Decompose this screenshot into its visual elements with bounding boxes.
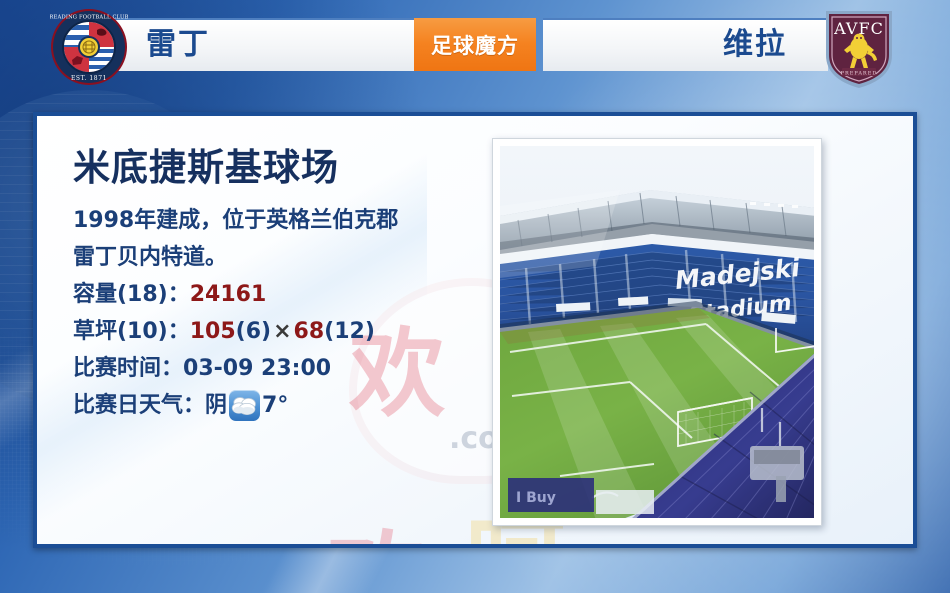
stadium-description-line-1: 1998年建成，位于英格兰伯克郡 xyxy=(73,202,493,239)
stadium-info-card: 欢 .com 欢 呵 米底捷斯基球场 1998年建成，位于英格兰伯克郡 雷丁贝内… xyxy=(33,112,917,548)
capacity-label: 容量(18)： xyxy=(73,282,190,307)
pitch-length: 105 xyxy=(190,319,236,344)
stadium-description-line-2: 雷丁贝内特道。 xyxy=(73,239,493,276)
pitch-width-rank: (12) xyxy=(324,319,375,344)
site-brand-logo-text: 足球魔方 xyxy=(431,30,519,60)
site-brand-logo[interactable]: 足球魔方 xyxy=(414,18,536,71)
weather-label: 比赛日天气： xyxy=(73,387,205,424)
weather-condition: 阴 xyxy=(205,387,227,424)
cloudy-icon xyxy=(229,390,260,421)
aston-villa-crest[interactable]: AVFC PREPARED xyxy=(822,8,896,90)
match-weather-row: 比赛日天气：阴 7° xyxy=(73,387,493,424)
stadium-title: 米底捷斯基球场 xyxy=(73,146,493,190)
match-header: READING FOOTBALL CLUB EST. 1871 雷丁 足球魔方 … xyxy=(0,0,950,90)
weather-temperature: 7° xyxy=(262,387,288,424)
svg-text:READING FOOTBALL CLUB: READING FOOTBALL CLUB xyxy=(50,15,128,21)
pitch-width: 68 xyxy=(294,319,325,344)
reading-fc-crest[interactable]: READING FOOTBALL CLUB EST. 1871 xyxy=(50,8,128,86)
match-time-label: 比赛时间： xyxy=(73,356,183,381)
stadium-photo-frame[interactable]: Madejski Stadium xyxy=(492,138,822,526)
match-time-row: 比赛时间：03-09 23:00 xyxy=(73,350,493,387)
capacity-value: 24161 xyxy=(190,282,267,307)
watermark-char-2: 欢 xyxy=(327,496,431,548)
madejski-stadium-photo: Madejski Stadium xyxy=(500,146,814,518)
match-time-value: 03-09 23:00 xyxy=(183,356,331,381)
pitch-length-rank: (6) xyxy=(236,319,271,344)
home-team-name: 雷丁 xyxy=(146,28,210,62)
pitch-separator: × xyxy=(271,319,293,344)
pitch-label: 草坪(10)： xyxy=(73,319,190,344)
svg-text:PREPARED: PREPARED xyxy=(841,70,878,76)
svg-text:I Buy: I Buy xyxy=(516,490,556,506)
pitch-size-row: 草坪(10)：105(6)×68(12) xyxy=(73,313,493,350)
svg-text:EST. 1871: EST. 1871 xyxy=(71,75,107,82)
away-team-name: 维拉 xyxy=(723,28,787,62)
capacity-row: 容量(18)：24161 xyxy=(73,276,493,313)
stadium-info-column: 米底捷斯基球场 1998年建成，位于英格兰伯克郡 雷丁贝内特道。 容量(18)：… xyxy=(73,146,493,424)
header-band-home xyxy=(88,18,428,71)
